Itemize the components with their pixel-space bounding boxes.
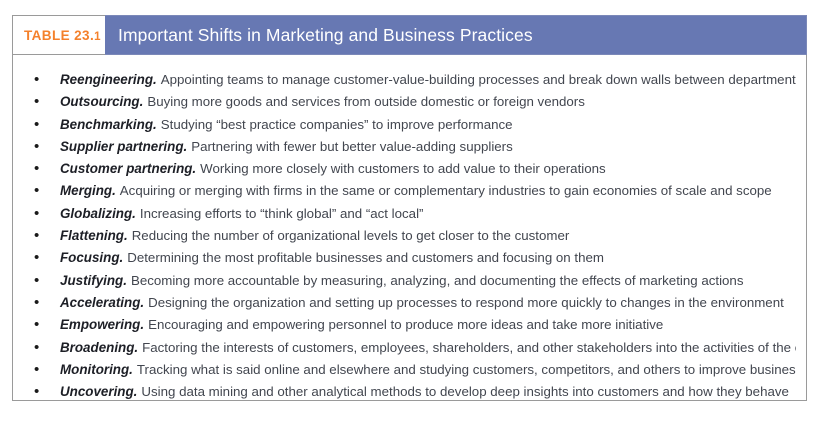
- shift-description: Tracking what is said online and elsewhe…: [133, 362, 796, 377]
- shift-term: Justifying.: [60, 273, 127, 288]
- list-item: Reengineering.Appointing teams to manage…: [23, 69, 796, 90]
- shift-description: Working more closely with customers to a…: [196, 161, 606, 176]
- list-item: Broadening.Factoring the interests of cu…: [23, 337, 796, 358]
- shift-term: Globalizing.: [60, 206, 136, 221]
- list-item: Justifying.Becoming more accountable by …: [23, 270, 796, 291]
- table-title-cell: Important Shifts in Marketing and Busine…: [105, 15, 807, 55]
- shift-term: Reengineering.: [60, 72, 157, 87]
- shift-term: Merging.: [60, 183, 116, 198]
- table-figure: TABLE 23.1 Important Shifts in Marketing…: [12, 15, 807, 401]
- list-item: Benchmarking.Studying “best practice com…: [23, 114, 796, 135]
- shift-term: Uncovering.: [60, 384, 137, 399]
- list-item: Focusing.Determining the most profitable…: [23, 247, 796, 268]
- table-number-cell: TABLE 23.1: [12, 15, 105, 55]
- shift-description: Increasing efforts to “think global” and…: [136, 206, 424, 221]
- shift-term: Monitoring.: [60, 362, 133, 377]
- list-item: Accelerating.Designing the organization …: [23, 292, 796, 313]
- list-item: Uncovering.Using data mining and other a…: [23, 381, 796, 402]
- list-item: Outsourcing.Buying more goods and servic…: [23, 91, 796, 112]
- table-body: Reengineering.Appointing teams to manage…: [12, 55, 807, 401]
- shift-description: Acquiring or merging with firms in the s…: [116, 183, 772, 198]
- table-number-label: TABLE 23.1: [24, 28, 101, 43]
- list-item: Supplier partnering.Partnering with fewe…: [23, 136, 796, 157]
- table-header: TABLE 23.1 Important Shifts in Marketing…: [12, 15, 807, 55]
- shift-term: Broadening.: [60, 340, 138, 355]
- list-item: Globalizing.Increasing efforts to “think…: [23, 203, 796, 224]
- list-item: Flattening.Reducing the number of organi…: [23, 225, 796, 246]
- list-item: Customer partnering.Working more closely…: [23, 158, 796, 179]
- shift-description: Partnering with fewer but better value-a…: [187, 139, 513, 154]
- shift-description: Factoring the interests of customers, em…: [138, 340, 796, 355]
- table-number-prefix: TABLE 23.: [24, 28, 94, 43]
- shift-term: Outsourcing.: [60, 94, 143, 109]
- table-title: Important Shifts in Marketing and Busine…: [118, 25, 533, 46]
- shift-description: Determining the most profitable business…: [123, 250, 604, 265]
- shift-term: Supplier partnering.: [60, 139, 187, 154]
- shift-description: Appointing teams to manage customer-valu…: [157, 72, 796, 87]
- shift-term: Benchmarking.: [60, 117, 157, 132]
- shift-term: Empowering.: [60, 317, 144, 332]
- shift-description: Reducing the number of organizational le…: [128, 228, 570, 243]
- shift-description: Buying more goods and services from outs…: [143, 94, 585, 109]
- shift-description: Encouraging and empowering personnel to …: [144, 317, 663, 332]
- list-item: Empowering.Encouraging and empowering pe…: [23, 314, 796, 335]
- shift-term: Focusing.: [60, 250, 123, 265]
- table-number-digit: 1: [94, 31, 101, 43]
- list-item: Monitoring.Tracking what is said online …: [23, 359, 796, 380]
- shift-term: Flattening.: [60, 228, 128, 243]
- list-item: Merging.Acquiring or merging with firms …: [23, 180, 796, 201]
- shift-description: Becoming more accountable by measuring, …: [127, 273, 744, 288]
- shift-description: Using data mining and other analytical m…: [137, 384, 789, 399]
- shift-description: Designing the organization and setting u…: [144, 295, 784, 310]
- shift-list: Reengineering.Appointing teams to manage…: [23, 69, 796, 402]
- shift-description: Studying “best practice companies” to im…: [157, 117, 513, 132]
- shift-term: Accelerating.: [60, 295, 144, 310]
- shift-term: Customer partnering.: [60, 161, 196, 176]
